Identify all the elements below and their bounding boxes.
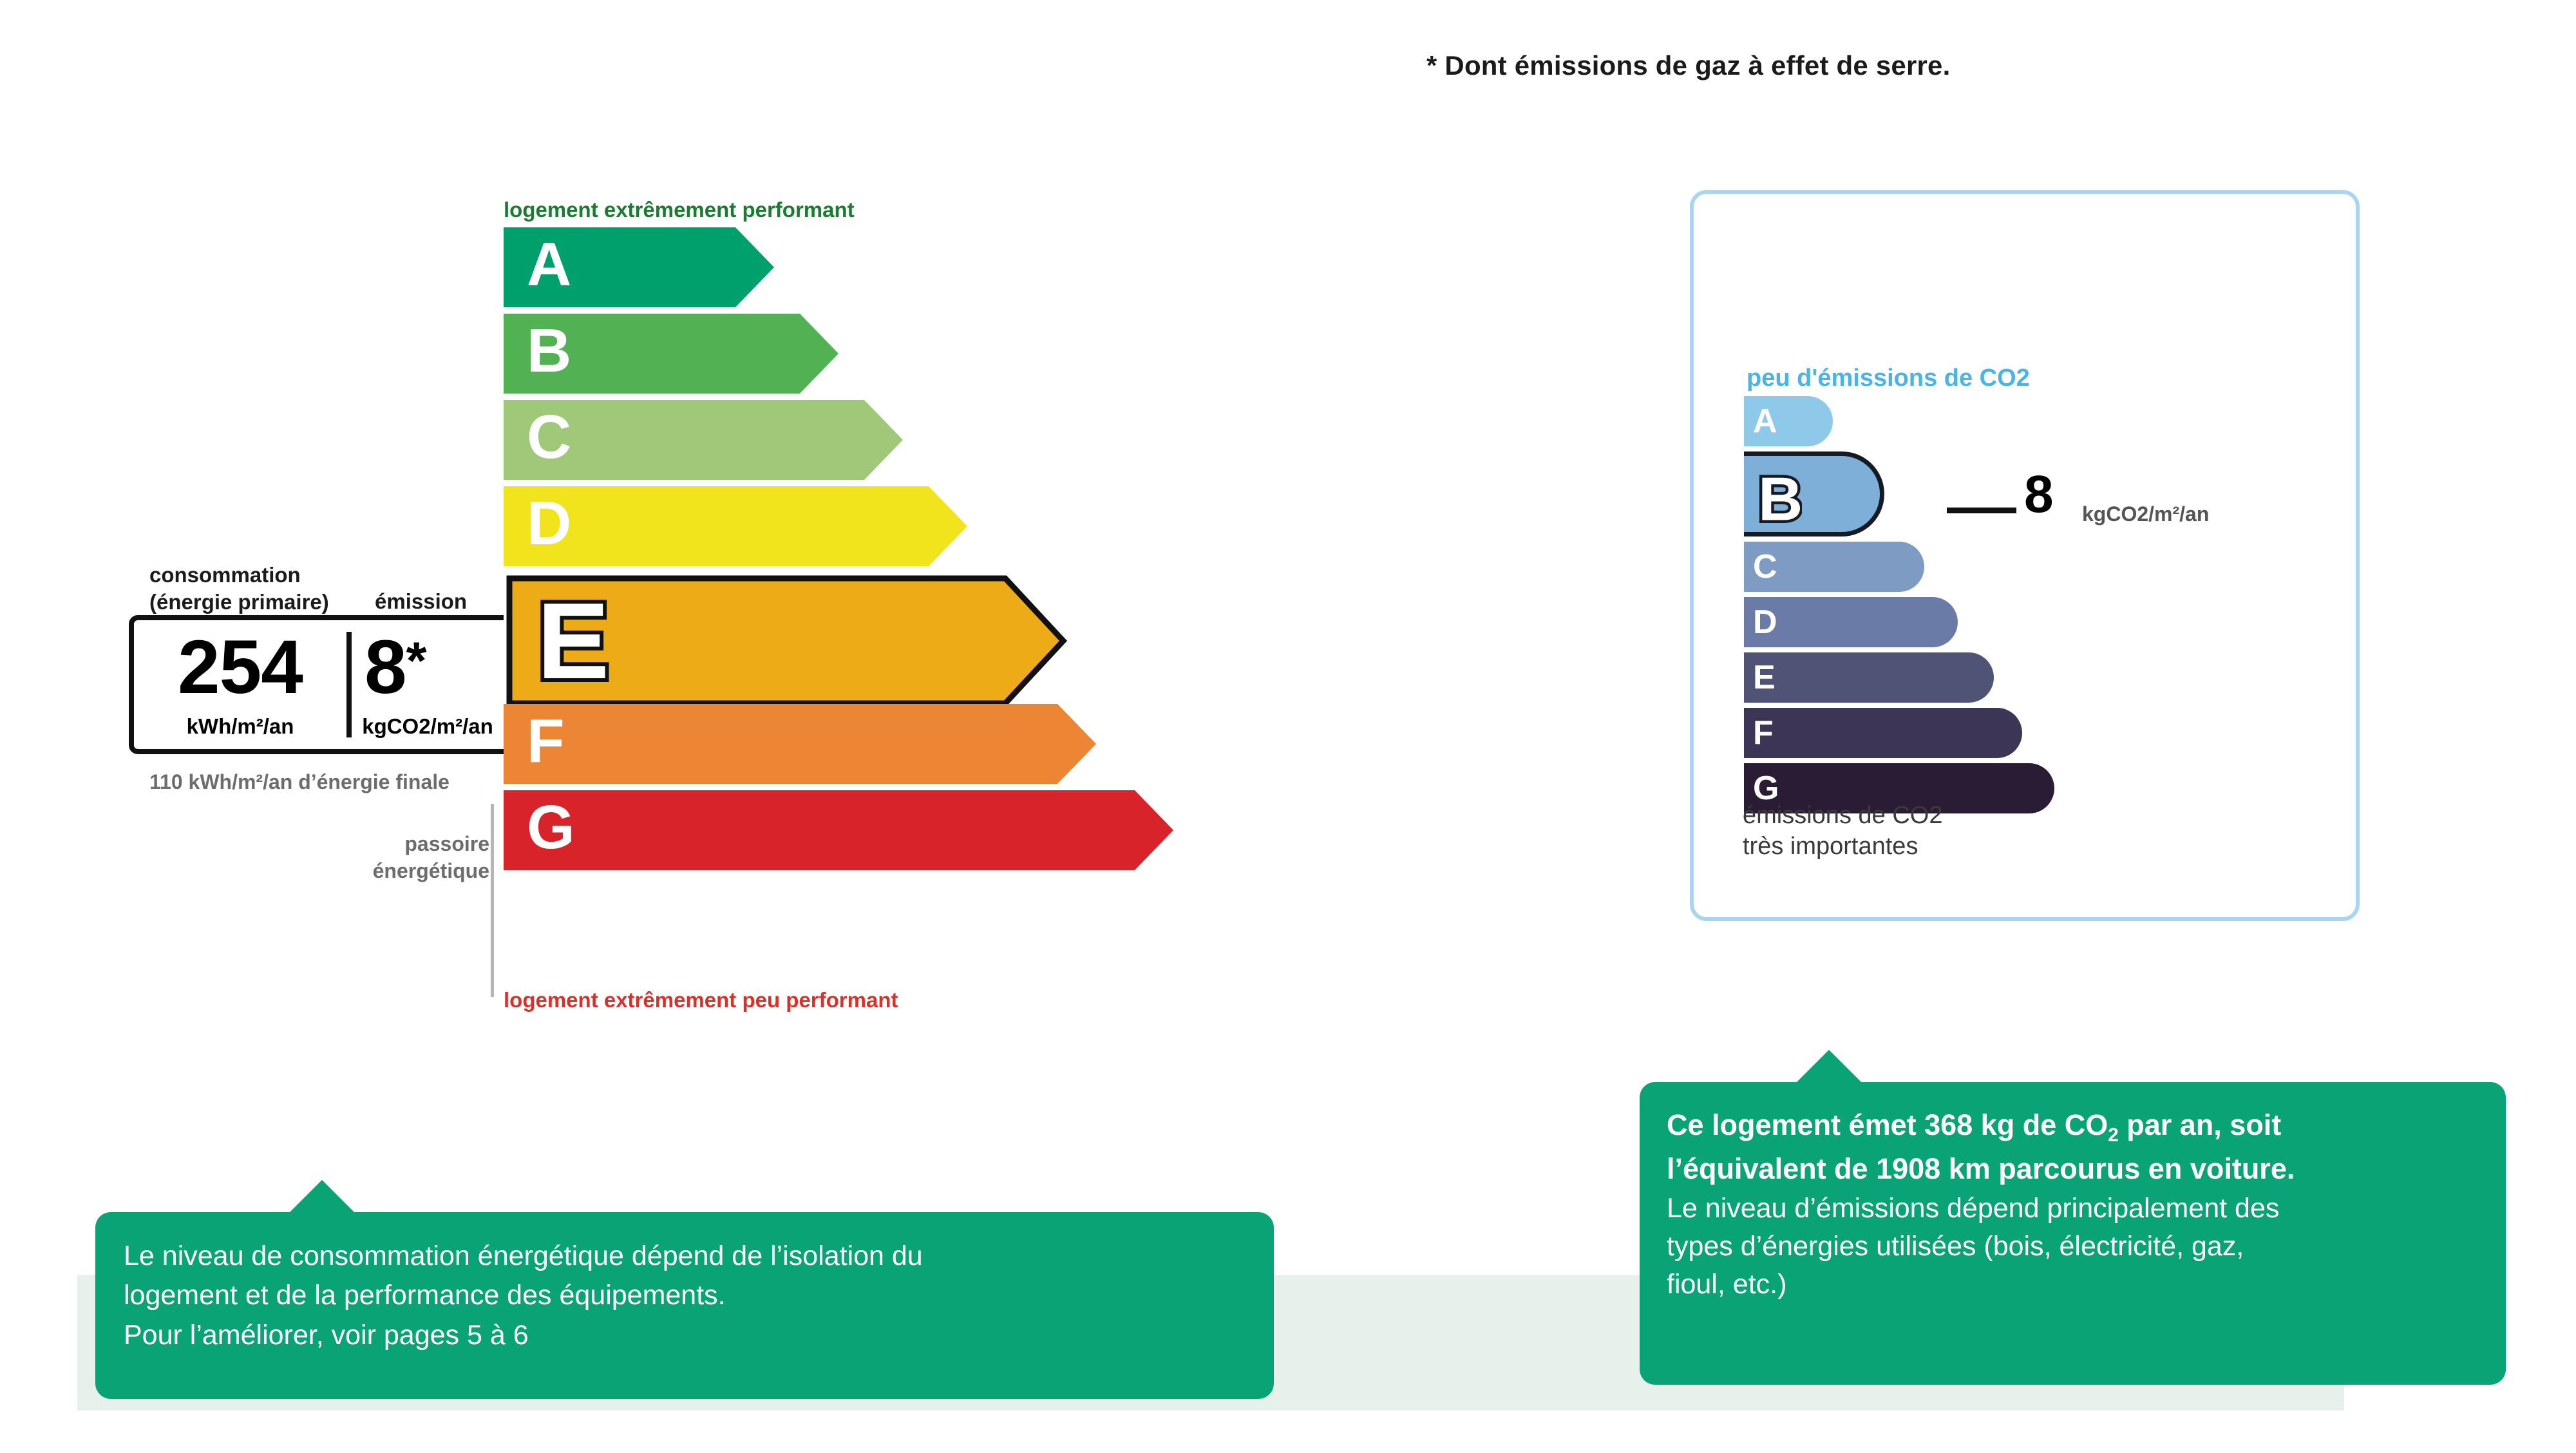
passoire-line2: énergétique [361, 858, 489, 885]
co2-bar-letter-e: E [1753, 661, 1776, 694]
emission-value: 8* [352, 629, 504, 705]
co2-value: 8 [2024, 468, 2054, 521]
scale-bottom-label: logement extrêmement peu performant [504, 988, 898, 1012]
co2-subscript: 2 [2108, 1125, 2119, 1146]
co2-bar-letter-b: B [1754, 464, 1802, 524]
co2-callout-headline: Ce logement émet 368 kg de CO2 par an, s… [1667, 1105, 2479, 1188]
co2-unit: kgCO2/m²/an [2082, 502, 2209, 526]
primary-energy-cell: 254 kWh/m²/an [134, 620, 346, 749]
passoire-energetique-label: passoire énergétique [361, 831, 489, 884]
scale-top-label: logement extrêmement performant [504, 198, 855, 222]
callout-tip-triangle [289, 1180, 355, 1213]
energy-band-arrow-f [504, 704, 1096, 784]
energy-band-letter-f: F [527, 710, 565, 772]
consumption-unit: kWh/m²/an [134, 714, 346, 739]
passoire-bracket-rule [491, 804, 494, 997]
energy-band-letter-b: B [527, 320, 571, 382]
co2-bar-c[interactable]: C [1744, 542, 1924, 592]
passoire-line1: passoire [361, 831, 489, 858]
final-energy-note: 110 kWh/m²/an d’énergie finale [149, 769, 450, 796]
co2-bar-list: ABCDEFG [1744, 396, 2054, 819]
svg-text:E: E [537, 580, 609, 701]
consumption-label-line2: (énergie primaire) [149, 589, 329, 616]
co2-bottom-label: émissions de CO2 très importantes [1743, 801, 1942, 862]
co2-callout-lead-before: Ce logement émet 368 kg de CO [1667, 1108, 2108, 1141]
energy-band-letter-g: G [527, 797, 575, 859]
co2-bar-letter-a: A [1753, 404, 1777, 438]
value-box-divider [346, 632, 352, 737]
co2-bar-e[interactable]: E [1744, 652, 1994, 703]
energy-consumption-scale: logement extrêmement performant ABCDEFG … [0, 0, 1352, 1095]
callout-tip-triangle [1795, 1050, 1862, 1083]
energy-band-arrow-d [504, 486, 967, 566]
co2-bar-b[interactable]: B [1744, 451, 1884, 537]
co2-bar-a[interactable]: A [1744, 396, 1833, 446]
emission-unit: kgCO2/m²/an [352, 714, 504, 739]
energy-band-letter-a: A [527, 234, 571, 296]
co2-bar-f[interactable]: F [1744, 708, 2022, 758]
co2-emission-cell: 8* kgCO2/m²/an [352, 620, 504, 749]
consumption-label-line1: consommation [149, 562, 329, 589]
co2-leader-line [1947, 508, 2016, 513]
co2-bar-letter-c: C [1753, 550, 1777, 584]
consumption-value: 254 [134, 629, 346, 705]
energy-band-letter-d: D [527, 493, 571, 555]
co2-callout: Ce logement émet 368 kg de CO2 par an, s… [1640, 1082, 2506, 1385]
co2-top-label: peu d'émissions de CO2 [1747, 365, 2030, 392]
energy-band-letter-e: E [533, 578, 623, 703]
energy-band-letter-c: C [527, 406, 571, 468]
svg-text:B: B [1758, 465, 1802, 525]
consumption-value-box: 254 kWh/m²/an 8* kgCO2/m²/an [129, 615, 504, 754]
energy-callout-text: Le niveau de consommation énergétique dé… [124, 1237, 1245, 1355]
energy-band-arrow-g [504, 790, 1173, 870]
energy-callout: Le niveau de consommation énergétique dé… [95, 1212, 1274, 1399]
emission-number: 8 [365, 625, 406, 710]
co2-bar-letter-f: F [1753, 716, 1774, 750]
co2-bar-letter-d: D [1753, 605, 1777, 639]
greenhouse-gas-footnote: * Dont émissions de gaz à effet de serre… [1426, 50, 1950, 81]
emission-asterisk: * [406, 632, 426, 690]
co2-bar-d[interactable]: D [1744, 597, 1958, 647]
consumption-header-labels: consommation (énergie primaire) émission [149, 562, 329, 616]
emission-label: émission [375, 588, 467, 615]
co2-callout-text: Le niveau d’émissions dépend principalem… [1667, 1190, 2479, 1304]
dpe-diagram: * Dont émissions de gaz à effet de serre… [0, 0, 2576, 1453]
